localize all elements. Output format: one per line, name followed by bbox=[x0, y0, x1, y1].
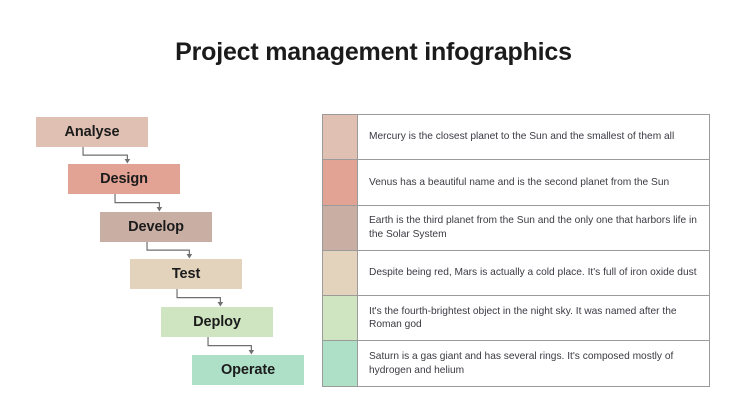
table-row: Saturn is a gas giant and has several ri… bbox=[323, 341, 710, 386]
process-flow-staircase: AnalyseDesignDevelopTestDeployOperate bbox=[0, 0, 320, 420]
row-color-swatch bbox=[323, 205, 358, 250]
row-description: Despite being red, Mars is actually a co… bbox=[358, 250, 710, 295]
connector-arrowhead bbox=[218, 302, 224, 307]
step-box-develop[interactable]: Develop bbox=[100, 212, 212, 242]
step-box-analyse[interactable]: Analyse bbox=[36, 117, 148, 147]
row-color-swatch bbox=[323, 341, 358, 386]
row-description: Venus has a beautiful name and is the se… bbox=[358, 160, 710, 205]
step-box-operate[interactable]: Operate bbox=[192, 355, 304, 385]
row-color-swatch bbox=[323, 160, 358, 205]
step-label: Analyse bbox=[65, 125, 120, 140]
table-row: Venus has a beautiful name and is the se… bbox=[323, 160, 710, 205]
connector-arrowhead bbox=[125, 159, 131, 164]
connector-arrow bbox=[177, 289, 220, 303]
table-row: It's the fourth-brightest object in the … bbox=[323, 296, 710, 341]
row-description: Mercury is the closest planet to the Sun… bbox=[358, 115, 710, 160]
step-label: Design bbox=[100, 172, 148, 187]
planet-description-table: Mercury is the closest planet to the Sun… bbox=[322, 114, 710, 387]
step-label: Deploy bbox=[193, 315, 241, 330]
step-box-test[interactable]: Test bbox=[130, 259, 242, 289]
table-row: Mercury is the closest planet to the Sun… bbox=[323, 115, 710, 160]
step-box-deploy[interactable]: Deploy bbox=[161, 307, 273, 337]
table-row: Despite being red, Mars is actually a co… bbox=[323, 250, 710, 295]
connector-arrowhead bbox=[157, 207, 163, 212]
connector-arrow bbox=[208, 337, 251, 351]
connector-arrow bbox=[115, 194, 159, 208]
row-color-swatch bbox=[323, 115, 358, 160]
row-color-swatch bbox=[323, 250, 358, 295]
table-body: Mercury is the closest planet to the Sun… bbox=[323, 115, 710, 387]
connector-arrow bbox=[83, 147, 127, 160]
step-label: Test bbox=[172, 267, 200, 282]
connector-arrowhead bbox=[187, 254, 193, 259]
row-description: It's the fourth-brightest object in the … bbox=[358, 296, 710, 341]
row-description: Earth is the third planet from the Sun a… bbox=[358, 205, 710, 250]
table-row: Earth is the third planet from the Sun a… bbox=[323, 205, 710, 250]
step-label: Develop bbox=[128, 220, 184, 235]
row-color-swatch bbox=[323, 296, 358, 341]
connector-arrow bbox=[147, 242, 189, 255]
row-description: Saturn is a gas giant and has several ri… bbox=[358, 341, 710, 386]
step-label: Operate bbox=[221, 363, 275, 378]
step-box-design[interactable]: Design bbox=[68, 164, 180, 194]
connector-arrowhead bbox=[249, 350, 255, 355]
